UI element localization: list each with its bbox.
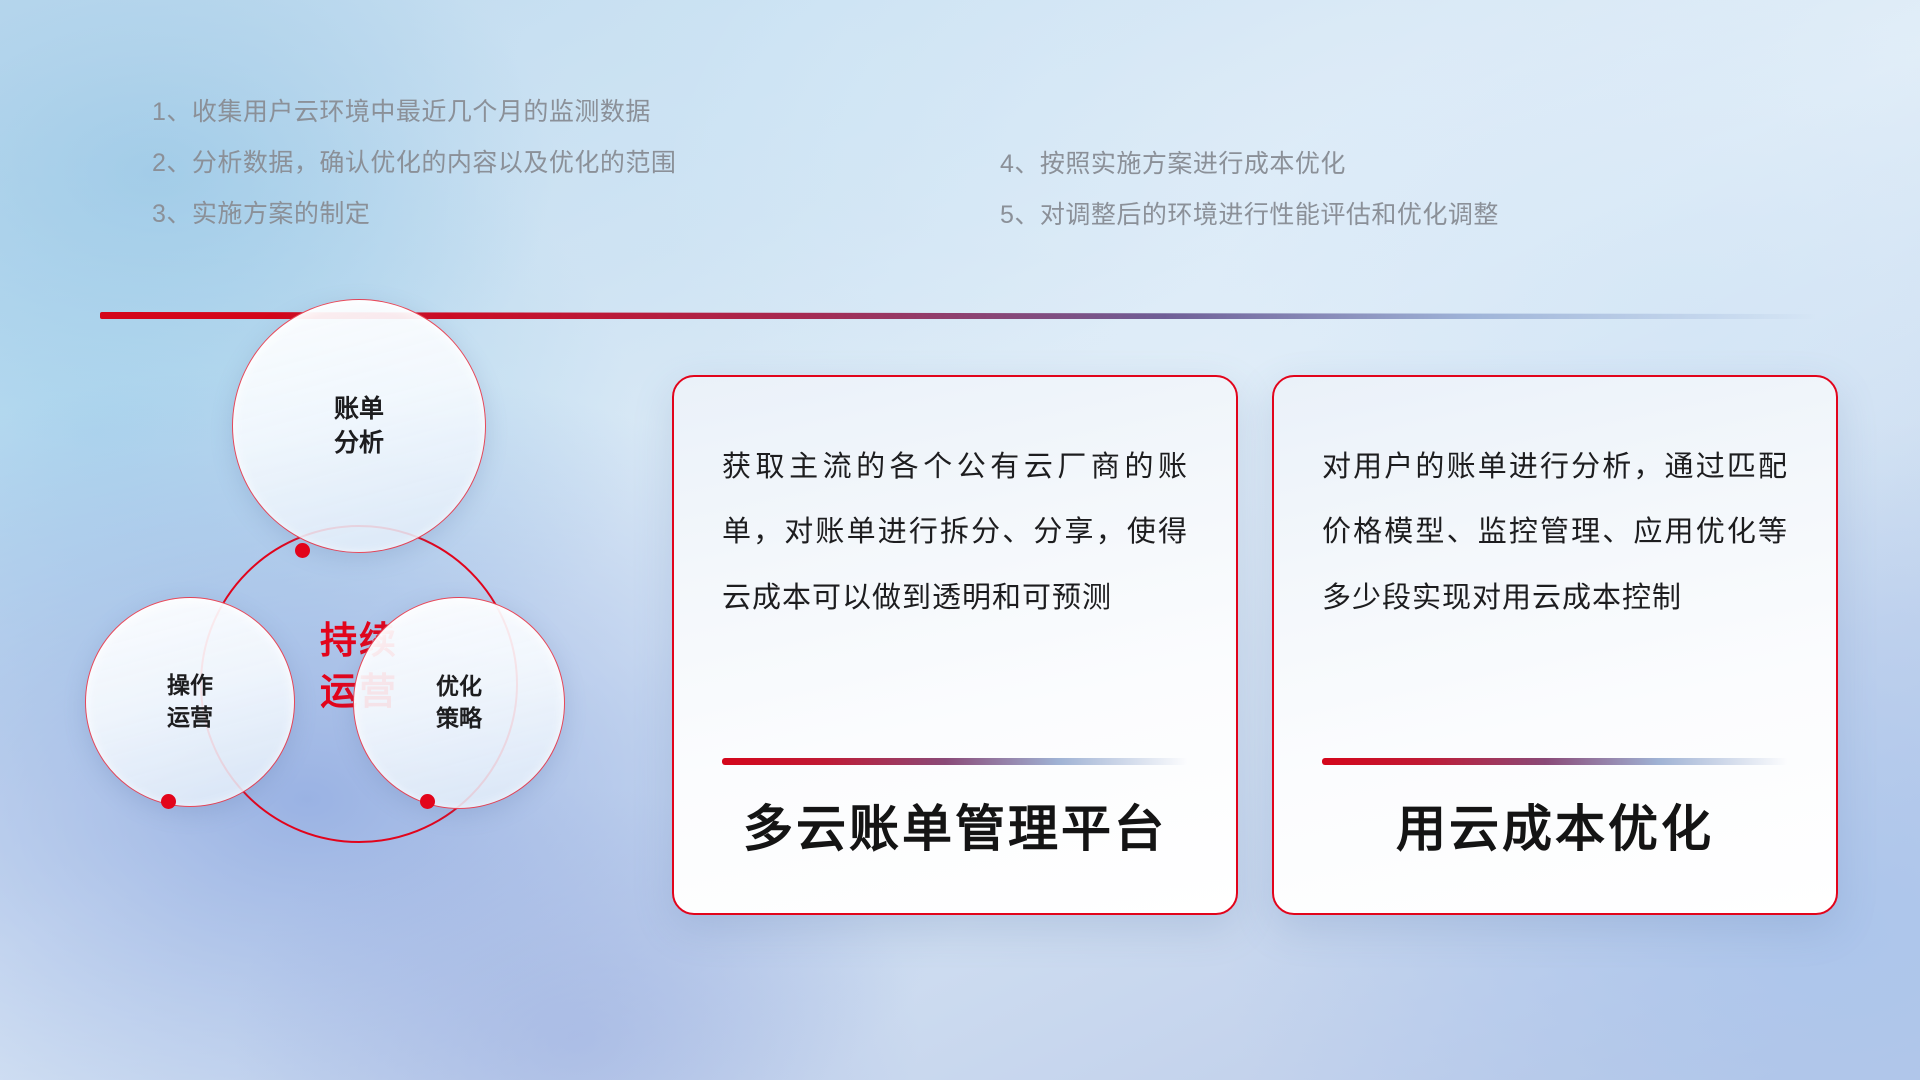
slide-canvas: 1、收集用户云环境中最近几个月的监测数据 2、分析数据，确认优化的内容以及优化的… bbox=[0, 0, 1920, 1080]
info-card-body: 对用户的账单进行分析，通过匹配价格模型、监控管理、应用优化等多少段实现对用云成本… bbox=[1322, 435, 1788, 631]
venn-bubble-bill-analysis-line1: 账单 bbox=[334, 392, 384, 427]
info-card-title: 用云成本优化 bbox=[1274, 789, 1836, 861]
venn-bubble-optimization-strategy-line2: 策略 bbox=[436, 703, 482, 735]
process-steps-left: 1、收集用户云环境中最近几个月的监测数据 2、分析数据，确认优化的内容以及优化的… bbox=[152, 100, 676, 253]
venn-node-dot-top bbox=[295, 543, 310, 558]
venn-diagram: 持续 运营 账单 分析 操作 运营 优化 策略 bbox=[95, 345, 565, 925]
process-steps-right: 4、按照实施方案进行成本优化 5、对调整后的环境进行性能评估和优化调整 bbox=[1000, 152, 1499, 254]
venn-bubble-optimization-strategy[interactable]: 优化 策略 bbox=[353, 597, 565, 809]
venn-bubble-optimization-strategy-line1: 优化 bbox=[436, 671, 482, 703]
info-card-multi-cloud-billing-platform[interactable]: 获取主流的各个公有云厂商的账单，对账单进行拆分、分享，使得云成本可以做到透明和可… bbox=[672, 375, 1238, 915]
info-card-body: 获取主流的各个公有云厂商的账单，对账单进行拆分、分享，使得云成本可以做到透明和可… bbox=[722, 435, 1188, 631]
info-card-rule bbox=[722, 758, 1188, 765]
venn-bubble-operations-line2: 运营 bbox=[167, 702, 213, 734]
info-card-title: 多云账单管理平台 bbox=[674, 789, 1236, 861]
process-step-1: 1、收集用户云环境中最近几个月的监测数据 bbox=[152, 100, 676, 125]
venn-bubble-bill-analysis-line2: 分析 bbox=[334, 426, 384, 461]
venn-bubble-operations-line1: 操作 bbox=[167, 670, 213, 702]
process-step-2: 2、分析数据，确认优化的内容以及优化的范围 bbox=[152, 151, 676, 176]
info-card-cloud-cost-optimization[interactable]: 对用户的账单进行分析，通过匹配价格模型、监控管理、应用优化等多少段实现对用云成本… bbox=[1272, 375, 1838, 915]
info-card-rule bbox=[1322, 758, 1788, 765]
venn-bubble-operations[interactable]: 操作 运营 bbox=[85, 597, 295, 807]
process-step-5: 5、对调整后的环境进行性能评估和优化调整 bbox=[1000, 203, 1499, 228]
venn-node-dot-left bbox=[161, 794, 176, 809]
process-step-4: 4、按照实施方案进行成本优化 bbox=[1000, 152, 1499, 177]
venn-node-dot-right bbox=[420, 794, 435, 809]
process-step-3: 3、实施方案的制定 bbox=[152, 202, 676, 227]
venn-bubble-bill-analysis[interactable]: 账单 分析 bbox=[232, 299, 486, 553]
